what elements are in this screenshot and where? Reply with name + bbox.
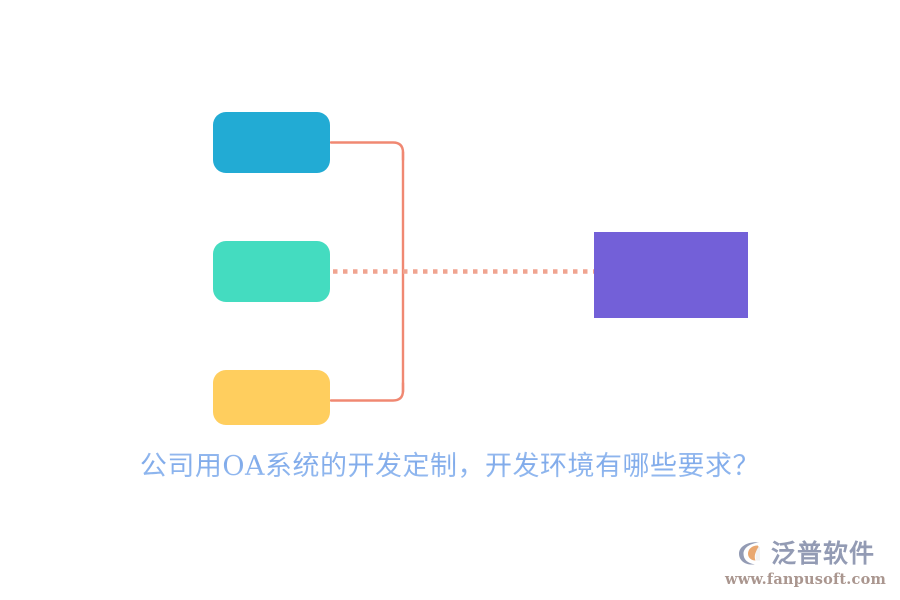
watermark-url: www.fanpusoft.com bbox=[725, 571, 886, 588]
connector-blue-to-trunk bbox=[331, 143, 403, 161]
fanpu-logo-icon bbox=[736, 538, 766, 568]
diagram-node-blue[interactable] bbox=[213, 112, 330, 173]
diagram-canvas: 公司用OA系统的开发定制，开发环境有哪些要求？ 泛普软件 www.fanpuso… bbox=[0, 0, 900, 600]
watermark: 泛普软件 www.fanpusoft.com bbox=[725, 538, 886, 588]
diagram-node-green[interactable] bbox=[213, 241, 330, 302]
caption-text: 公司用OA系统的开发定制，开发环境有哪些要求？ bbox=[0, 444, 900, 483]
connector-yellow-to-trunk bbox=[331, 383, 403, 401]
diagram-node-purple[interactable] bbox=[594, 232, 748, 318]
watermark-brand-row: 泛普软件 bbox=[736, 538, 875, 568]
connector-layer bbox=[0, 0, 900, 600]
diagram-node-yellow[interactable] bbox=[213, 370, 330, 425]
watermark-brand: 泛普软件 bbox=[771, 541, 875, 566]
